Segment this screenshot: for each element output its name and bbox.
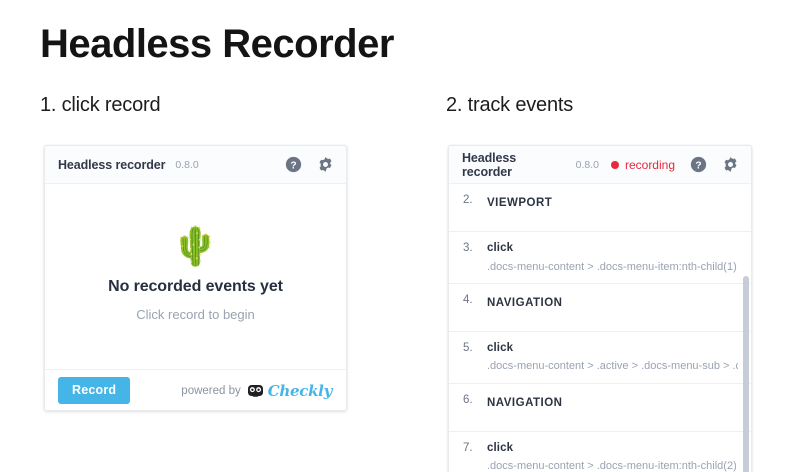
event-selector: .docs-menu-content > .docs-menu-item:nth… [487,260,738,274]
panel-footer: Record powered by Checkly [45,369,346,411]
event-body: NAVIGATION [487,293,738,312]
event-list-item[interactable]: 3. click .docs-menu-content > .docs-menu… [449,232,751,284]
event-type: VIEWPORT [487,197,552,209]
event-selector: .docs-menu-content > .docs-menu-item:nth… [487,459,738,472]
event-list-item[interactable]: 5. click .docs-menu-content > .active > … [449,332,751,384]
event-list-scrollbar[interactable] [743,276,749,472]
empty-state-title: No recorded events yet [108,278,283,296]
event-index: 5. [463,341,478,354]
page-title: Headless Recorder [40,20,394,68]
event-body: click .docs-menu-content > .docs-menu-it… [487,241,738,274]
panel-header-right: Headless recorder 0.8.0 recording ? [449,146,751,184]
recorder-panel-idle: Headless recorder 0.8.0 ? 🌵 No recorded … [44,145,347,411]
event-type: click [487,441,738,457]
checkly-wordmark: Checkly [268,382,332,400]
event-index: 4. [463,293,478,306]
powered-by-block: powered by Checkly [181,382,332,400]
empty-state: 🌵 No recorded events yet Click record to… [45,184,346,369]
recording-label: recording [625,158,675,172]
step-heading-1: 1. click record [40,94,160,117]
recorder-panel-recording: Headless recorder 0.8.0 recording ? 2. V… [448,145,752,472]
help-circle-icon[interactable]: ? [690,156,707,173]
brand-version: 0.8.0 [175,159,198,171]
event-list-item[interactable]: 4. NAVIGATION [449,284,751,332]
event-type: click [487,241,738,257]
panel-header-left: Headless recorder 0.8.0 ? [45,146,346,184]
powered-by-label: powered by [181,385,240,397]
gear-icon[interactable] [317,156,334,173]
help-circle-icon[interactable]: ? [285,156,302,173]
step-heading-2: 2. track events [446,94,573,117]
brand-version: 0.8.0 [576,159,599,171]
svg-text:?: ? [290,160,296,171]
event-list[interactable]: 2. VIEWPORT 3. click .docs-menu-content … [449,184,751,472]
event-index: 2. [463,193,478,206]
checkly-logo[interactable]: Checkly [247,382,332,400]
event-list-item[interactable]: 2. VIEWPORT [449,184,751,232]
recording-status: recording [611,158,675,172]
event-index: 7. [463,441,478,454]
event-type: NAVIGATION [487,297,563,309]
event-index: 6. [463,393,478,406]
cactus-icon: 🌵 [172,228,219,266]
event-list-item[interactable]: 7. click .docs-menu-content > .docs-menu… [449,432,751,472]
event-type: click [487,341,738,357]
record-button[interactable]: Record [58,377,130,404]
event-selector: .docs-menu-content > .active > .docs-men… [487,359,738,373]
event-index: 3. [463,241,478,254]
event-body: NAVIGATION [487,393,738,412]
event-type: NAVIGATION [487,397,563,409]
event-body: VIEWPORT [487,193,738,212]
checkly-mascot-icon [247,383,264,398]
brand-name: Headless recorder [462,151,566,179]
svg-text:?: ? [695,160,701,171]
gear-icon[interactable] [722,156,739,173]
event-body: click .docs-menu-content > .active > .do… [487,341,738,374]
recording-dot-icon [611,161,619,169]
empty-state-subtitle: Click record to begin [136,307,255,322]
brand-name: Headless recorder [58,158,165,172]
event-body: click .docs-menu-content > .docs-menu-it… [487,441,738,472]
event-list-item[interactable]: 6. NAVIGATION [449,384,751,432]
